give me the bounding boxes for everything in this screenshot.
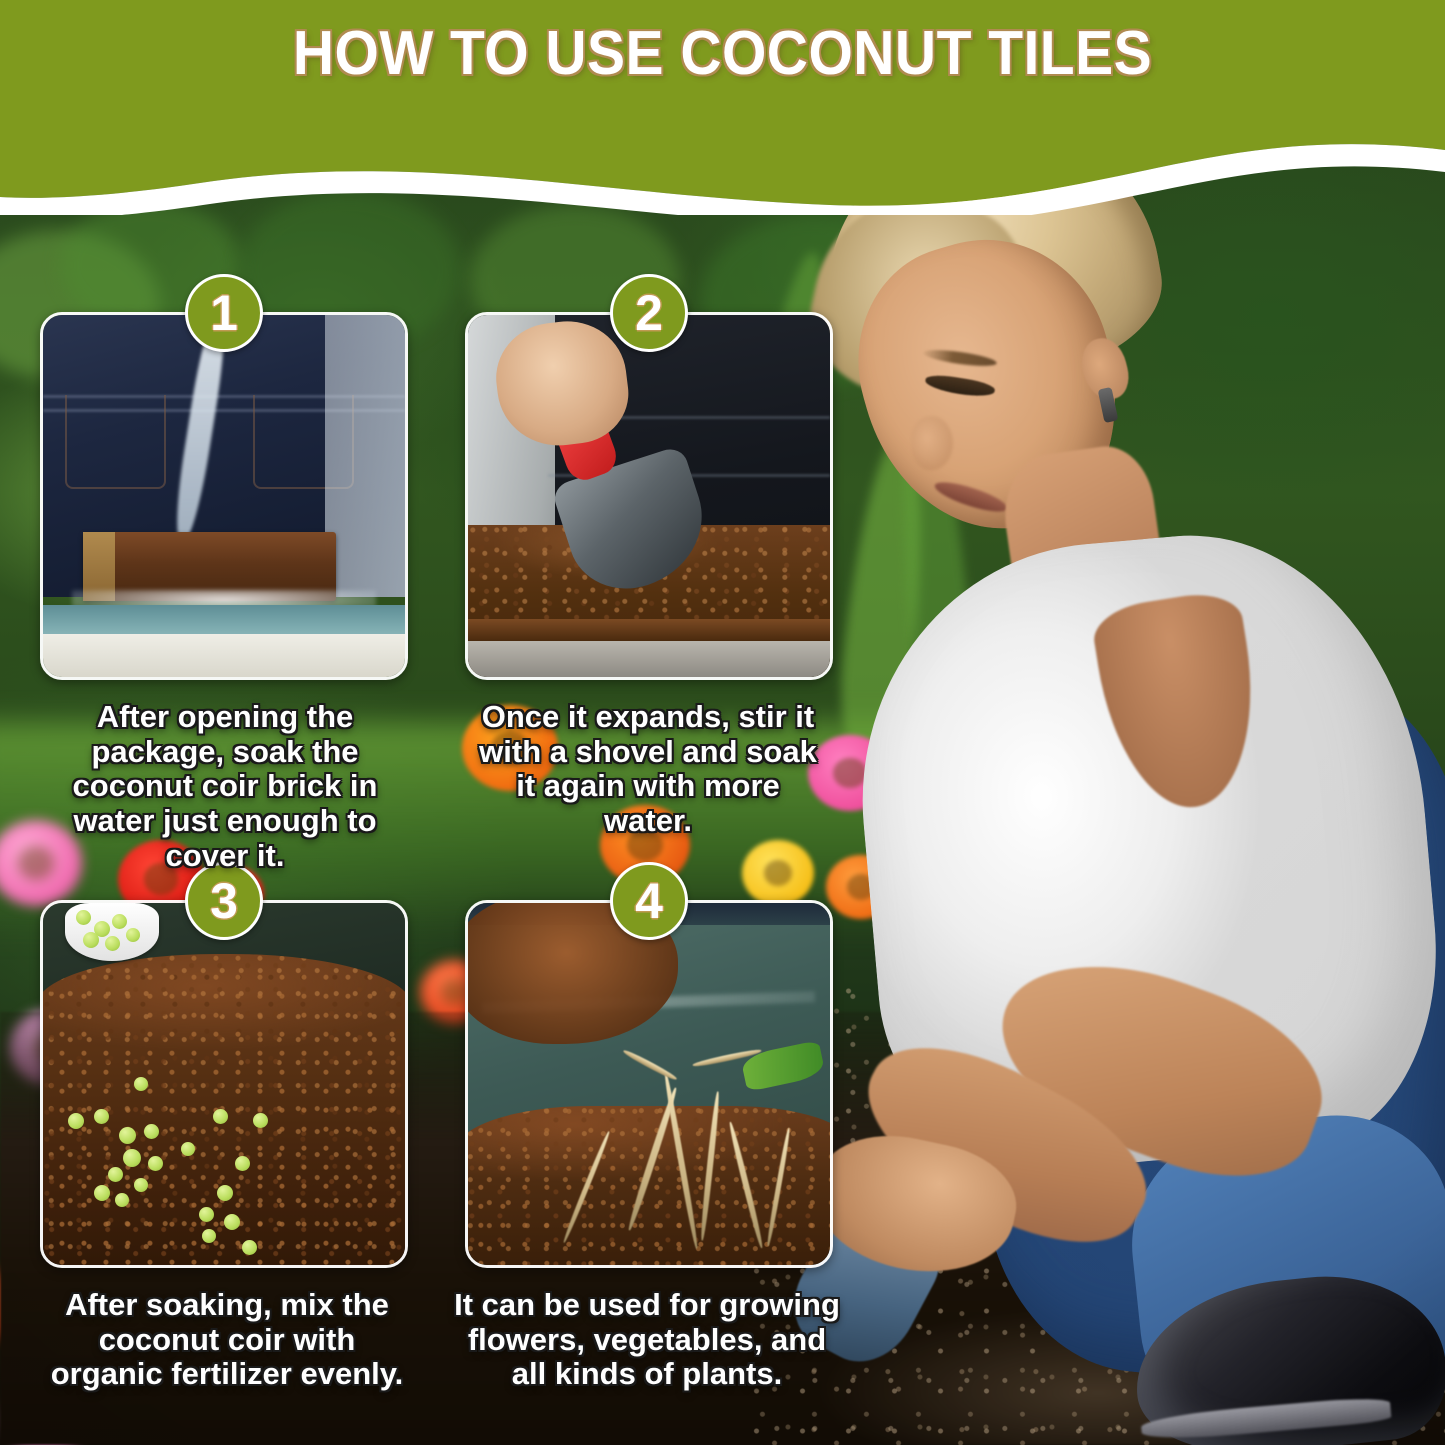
step-number-4: 4 — [635, 876, 663, 926]
fertilizer-pellet — [202, 1229, 216, 1243]
step-3-image — [43, 903, 405, 1265]
fertilizer-pellet — [217, 1185, 233, 1201]
fertilizer-pellet — [105, 936, 120, 951]
step-4-thumbnail[interactable] — [465, 900, 833, 1268]
step-number-1: 1 — [210, 288, 238, 338]
step-card-2[interactable]: 2 — [465, 312, 833, 680]
step-caption-1: After opening the package, soak the coco… — [30, 700, 420, 874]
step-card-3[interactable]: 3 — [40, 900, 408, 1268]
step-2-thumbnail[interactable] — [465, 312, 833, 680]
fertilizer-pellet — [253, 1113, 268, 1128]
window-ledge — [43, 634, 405, 677]
fertilizer-pellet — [199, 1207, 214, 1222]
step-1-image — [43, 315, 405, 677]
fertilizer-pellet — [112, 914, 127, 929]
tray-bottom — [43, 605, 405, 634]
infographic-poster: HOW TO USE COCONUT TILES 1 After opening — [0, 0, 1445, 1445]
step-number-3: 3 — [210, 876, 238, 926]
tray-side-wall — [325, 315, 405, 597]
step-card-4[interactable]: 4 — [465, 900, 833, 1268]
fertilizer-pellet — [76, 910, 91, 925]
step-caption-2: Once it expands, stir it with a shovel a… — [468, 700, 828, 839]
fertilizer-pellet — [134, 1178, 148, 1192]
step-badge-3: 3 — [185, 862, 263, 940]
step-badge-4: 4 — [610, 862, 688, 940]
fertilizer-pellet — [94, 1109, 109, 1124]
fertilizer-pellet — [123, 1149, 141, 1167]
fertilizer-pellet — [94, 1185, 110, 1201]
fertilizer-pellet — [83, 932, 99, 948]
page-title: HOW TO USE COCONUT TILES — [58, 18, 1387, 89]
gardener-figure — [805, 120, 1445, 1445]
fertilizer-pellet — [115, 1193, 129, 1207]
flower — [742, 840, 814, 906]
step-1-thumbnail[interactable] — [40, 312, 408, 680]
step-3-thumbnail[interactable] — [40, 900, 408, 1268]
fertilizer-pellet — [181, 1142, 195, 1156]
step-badge-1: 1 — [185, 274, 263, 352]
denim-pocket — [65, 395, 166, 489]
step-caption-3: After soaking, mix the coconut coir with… — [42, 1288, 412, 1392]
fertilizer-pellet — [134, 1077, 148, 1091]
step-4-image — [468, 903, 830, 1265]
step-number-2: 2 — [635, 288, 663, 338]
step-2-image — [468, 315, 830, 677]
step-card-1[interactable]: 1 — [40, 312, 408, 680]
step-badge-2: 2 — [610, 274, 688, 352]
step-caption-4: It can be used for growing flowers, vege… — [452, 1288, 842, 1392]
coir-band — [468, 619, 830, 641]
fertilizer-pellet — [242, 1240, 257, 1255]
floor-strip — [468, 641, 830, 677]
